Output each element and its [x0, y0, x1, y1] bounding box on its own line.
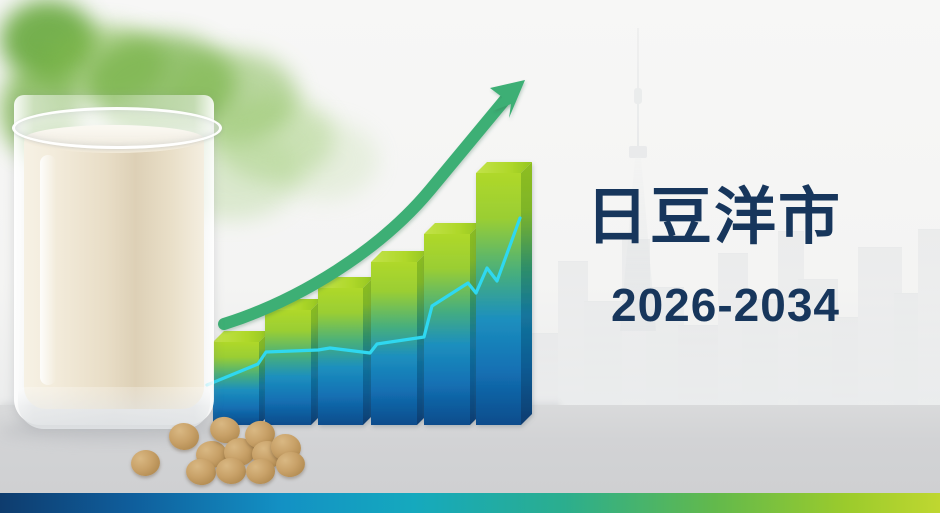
- glass-rim: [12, 107, 222, 149]
- bar-front-face: [265, 310, 311, 425]
- page-subtitle: 2026-2034: [611, 280, 840, 330]
- bar-6: [476, 162, 532, 425]
- bar-front-face: [424, 234, 470, 425]
- bar-side-face: [521, 162, 532, 425]
- bars-group: [213, 162, 532, 425]
- bar-front-face: [476, 173, 521, 425]
- bar-5: [424, 223, 481, 425]
- glass-highlight: [40, 155, 56, 385]
- footer-accent-bar: [0, 493, 940, 513]
- bar-2: [265, 299, 322, 425]
- glass-of-soy-milk: [14, 95, 214, 435]
- page-title: 日豆洋市: [586, 183, 842, 253]
- promo-banner: 日豆洋市 2026-2034: [0, 0, 940, 513]
- bar-front-face: [213, 342, 259, 425]
- bar-front-face: [318, 288, 363, 425]
